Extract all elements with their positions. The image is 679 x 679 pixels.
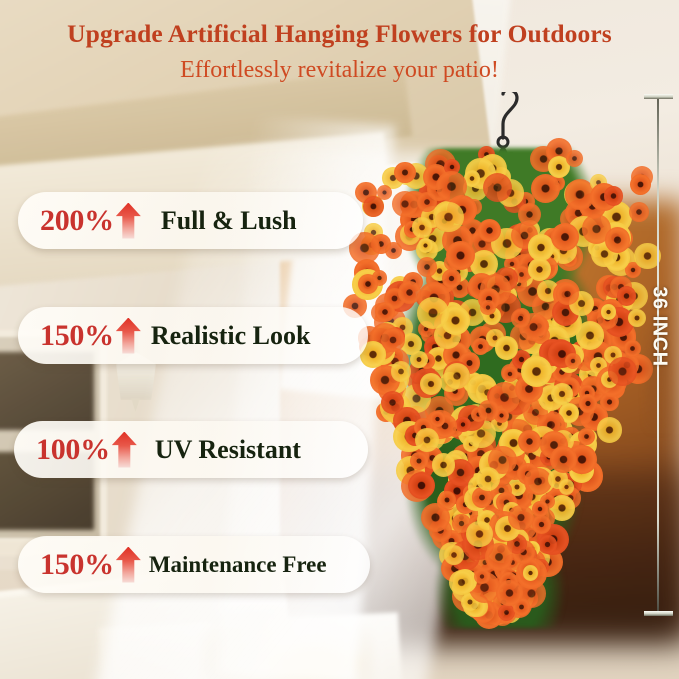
flower-bloom [381, 328, 405, 352]
up-arrow-icon [112, 432, 137, 468]
flower-bloom [485, 543, 513, 571]
flower-bloom [408, 472, 435, 499]
feature-percent: 150% [40, 548, 114, 582]
artificial-hanging-flower-basket [352, 148, 647, 628]
feature-badge-uv-resistant[interactable]: 100% UV Resistant [14, 421, 368, 478]
flower-bloom [410, 452, 428, 470]
flower-bloom [521, 356, 552, 387]
flower-bloom [420, 373, 442, 395]
flower-bloom [565, 353, 581, 369]
flower-bloom [496, 580, 522, 606]
flower-bloom [528, 258, 551, 281]
flower-bloom [444, 545, 464, 565]
feature-label: UV Resistant [155, 435, 301, 465]
feature-label: Full & Lush [161, 206, 297, 236]
flower-bloom [430, 411, 445, 426]
flower-bloom [617, 286, 636, 305]
flower-bloom [466, 521, 492, 547]
flower-bloom [410, 351, 428, 369]
feature-label: Realistic Look [151, 321, 311, 351]
flower-bloom [579, 394, 597, 412]
flower-bloom [495, 336, 519, 360]
feature-badge-maintenance-free[interactable]: 150% Maintenance Free [18, 536, 370, 593]
feature-percent: 200% [40, 204, 114, 238]
feature-label: Maintenance Free [149, 552, 327, 578]
flower-bloom [604, 186, 623, 205]
feature-badge-full-and-lush[interactable]: 200% Full & Lush [18, 192, 363, 249]
flower-bloom [476, 467, 500, 491]
flower-bloom [438, 491, 456, 509]
up-arrow-icon [116, 318, 141, 354]
flower-bloom [417, 257, 437, 277]
feature-badge-realistic-look[interactable]: 150% Realistic Look [18, 307, 368, 364]
flower-bloom [444, 363, 470, 389]
flower-bloom [433, 202, 463, 232]
flower-bloom [556, 283, 579, 306]
flower-bloom [446, 241, 475, 270]
flower-bloom [551, 383, 573, 405]
flower-bloom [508, 505, 533, 530]
up-arrow-icon [116, 203, 141, 239]
flower-bloom [417, 297, 449, 329]
flower-bloom [601, 304, 617, 320]
page-title: Upgrade Artificial Hanging Flowers for O… [0, 20, 679, 48]
flower-bloom [597, 417, 623, 443]
flower-bloom [415, 428, 439, 452]
page-subtitle: Effortlessly revitalize your patio! [0, 57, 679, 83]
measurement-value: 36 INCH [648, 285, 671, 369]
flower-bloom [605, 227, 630, 252]
flower-bloom [576, 321, 604, 349]
infographic-canvas: Upgrade Artificial Hanging Flowers for O… [0, 0, 679, 679]
flower-bloom [559, 479, 575, 495]
flower-bloom [478, 400, 499, 421]
feature-percent: 150% [40, 319, 114, 353]
flower-bloom [412, 217, 433, 238]
measurement-cap-top [644, 94, 673, 99]
feature-percent: 100% [36, 433, 110, 467]
flower-bloom [398, 281, 421, 304]
flower-bloom [523, 565, 539, 581]
flower-bloom [480, 300, 495, 315]
flower-bloom [608, 357, 637, 386]
flower-bloom [518, 430, 541, 453]
flower-bloom [455, 417, 471, 433]
flower-bloom [566, 150, 583, 167]
flower-bloom [474, 569, 489, 584]
flower-bloom [478, 219, 501, 242]
flower-bloom [528, 234, 555, 261]
size-measurement-indicator: 36 INCH [637, 90, 679, 620]
flower-bloom [418, 238, 433, 253]
flower-bloom [538, 535, 557, 554]
up-arrow-icon [116, 547, 141, 583]
flower-bloom [449, 570, 474, 595]
measurement-cap-bottom [644, 611, 673, 616]
flower-bloom [392, 191, 418, 217]
flower-bloom [550, 446, 577, 473]
flower-bloom [531, 174, 560, 203]
